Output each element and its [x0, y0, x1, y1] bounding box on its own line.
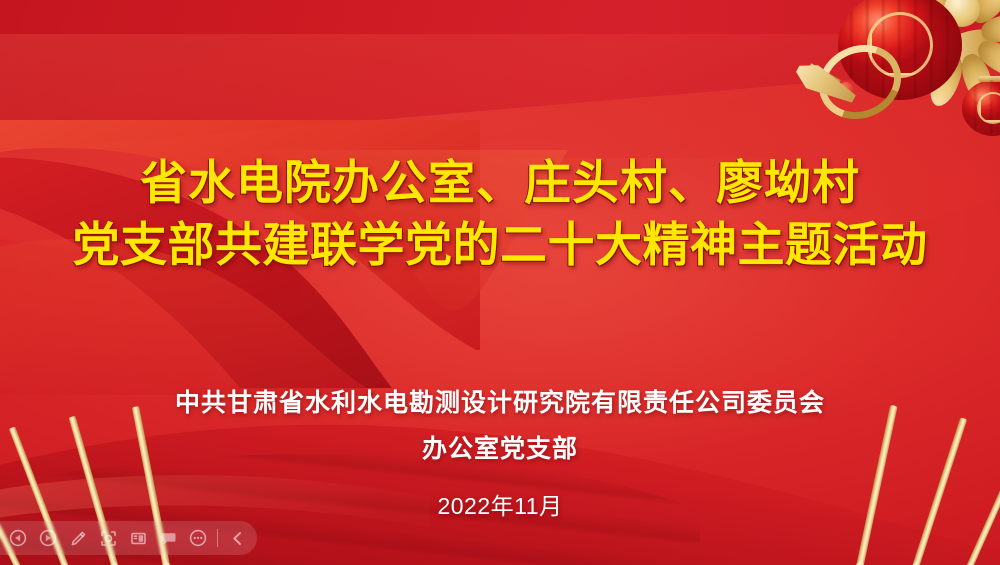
- presentation-toolbar: [0, 521, 257, 555]
- laser-focus-button[interactable]: [94, 524, 122, 552]
- play-arrow-icon: [39, 529, 57, 547]
- subtitle-line-1: 中共甘肃省水利水电勘测设计研究院有限责任公司委员会: [0, 380, 1000, 426]
- next-slide-button[interactable]: [34, 524, 62, 552]
- slide-date: 2022年11月: [0, 487, 1000, 521]
- slide-title: 省水电院办公室、庄头村、廖坳村 党支部共建联学党的二十大精神主题活动: [0, 152, 1000, 276]
- presenter-view-button[interactable]: [124, 524, 152, 552]
- lantern-decoration-group: [796, 0, 1000, 162]
- title-line-1: 省水电院办公室、庄头村、廖坳村: [0, 152, 1000, 214]
- chevron-left-icon: [228, 529, 247, 548]
- toolbar-divider: [217, 529, 218, 547]
- pen-icon: [69, 529, 88, 548]
- focus-frame-icon: [99, 529, 118, 548]
- presentation-slide: 省水电院办公室、庄头村、廖坳村 党支部共建联学党的二十大精神主题活动 中共甘肃省…: [0, 0, 1000, 565]
- pen-annotation-button[interactable]: [64, 524, 92, 552]
- more-options-button[interactable]: [184, 524, 212, 552]
- title-line-2: 党支部共建联学党的二十大精神主题活动: [0, 214, 1000, 276]
- previous-slide-button[interactable]: [4, 524, 32, 552]
- comment-button[interactable]: [154, 524, 182, 552]
- comment-bubble-icon: [159, 529, 178, 548]
- previous-arrow-icon: [9, 529, 27, 547]
- presenter-screen-icon: [129, 529, 148, 548]
- slide-subtitle: 中共甘肃省水利水电勘测设计研究院有限责任公司委员会 办公室党支部: [0, 380, 1000, 473]
- more-dots-icon: [189, 529, 207, 547]
- subtitle-line-2: 办公室党支部: [0, 426, 1000, 472]
- collapse-toolbar-button[interactable]: [223, 524, 251, 552]
